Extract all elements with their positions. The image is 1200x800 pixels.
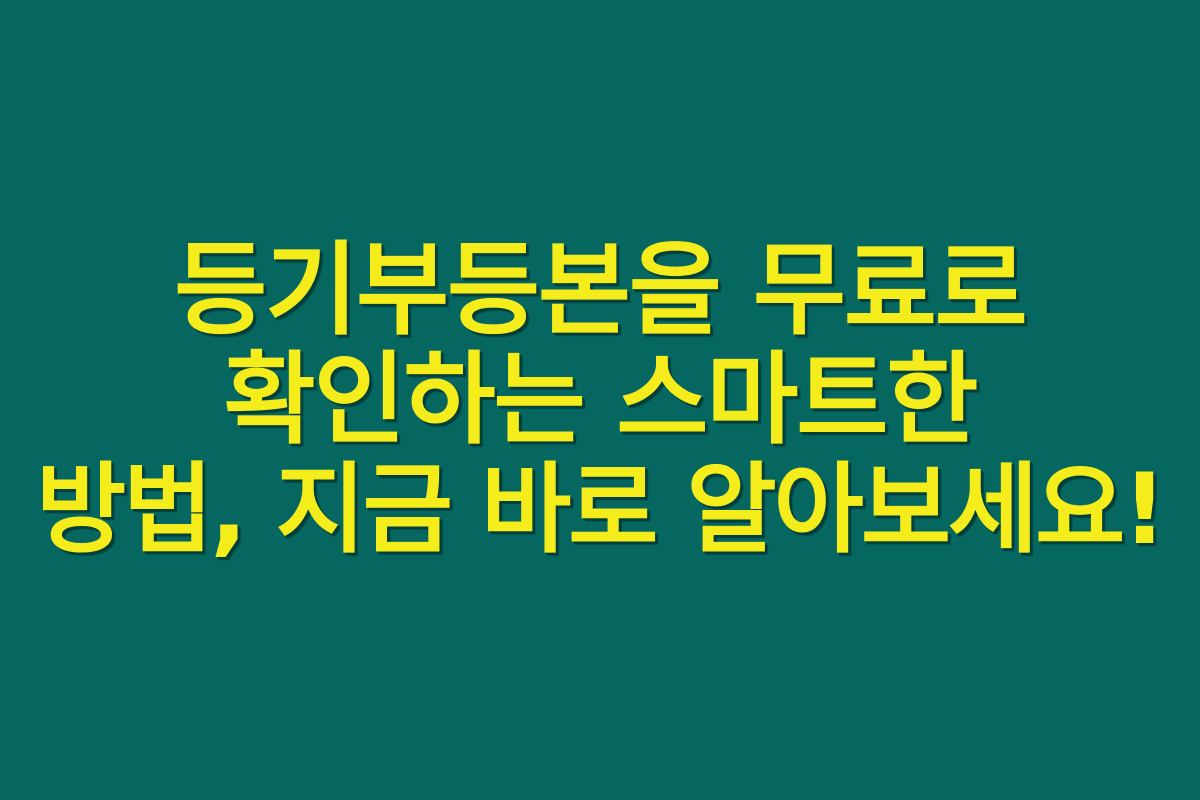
headline-line-1: 등기부등본을 무료로 (0, 235, 1200, 345)
promo-banner: 등기부등본을 무료로 확인하는 스마트한 방법, 지금 바로 알아보세요! (0, 0, 1200, 800)
headline-line-3: 방법, 지금 바로 알아보세요! (0, 455, 1200, 565)
headline-line-2: 확인하는 스마트한 (0, 345, 1200, 455)
headline-text: 등기부등본을 무료로 확인하는 스마트한 방법, 지금 바로 알아보세요! (0, 235, 1200, 565)
